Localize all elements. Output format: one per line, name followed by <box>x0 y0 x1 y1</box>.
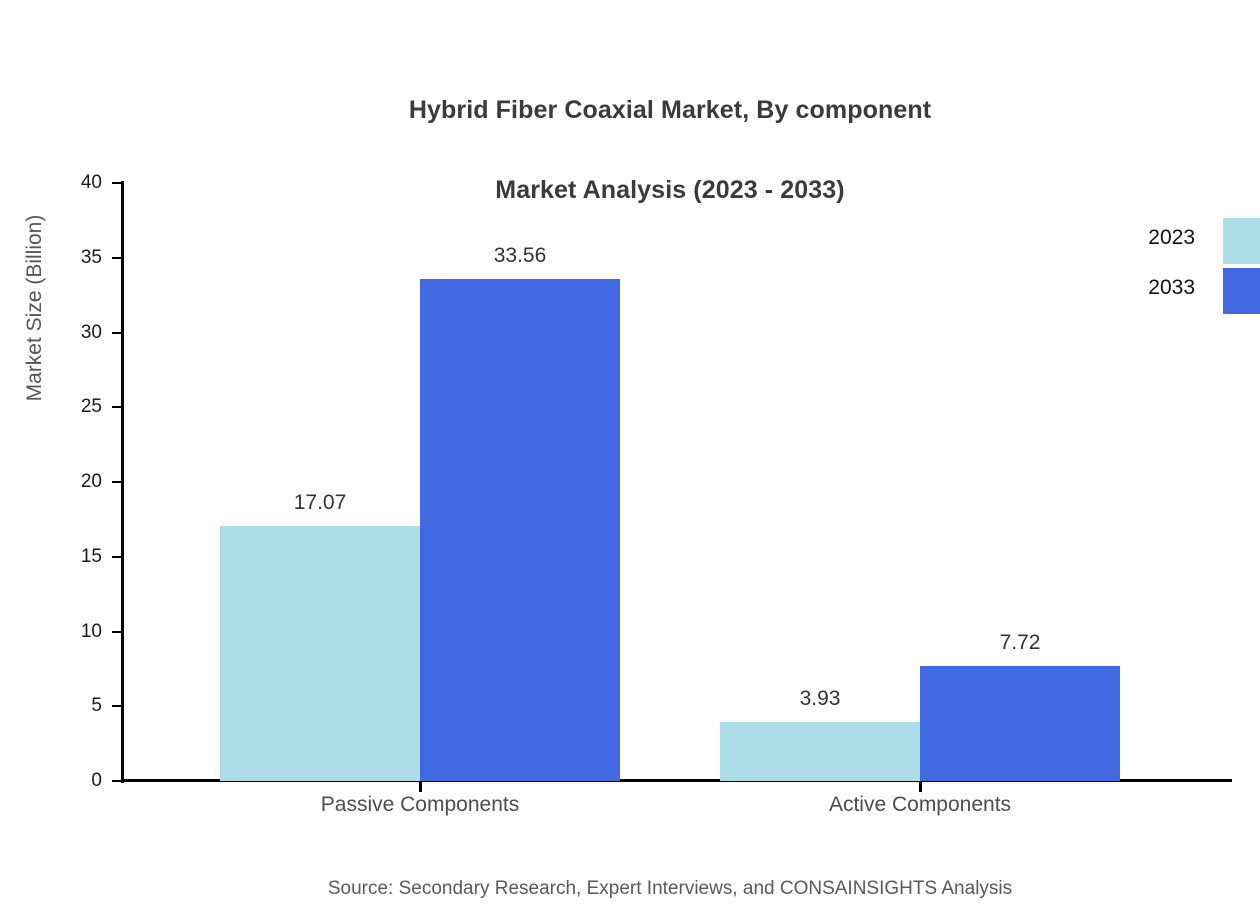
y-tick-mark <box>112 705 122 707</box>
chart-title: Hybrid Fiber Coaxial Market, By componen… <box>0 50 1260 250</box>
legend-item-2033[interactable]: 2033 <box>1135 268 1260 318</box>
y-tick-mark <box>112 631 122 633</box>
legend-label: 2033 <box>1135 276 1195 300</box>
bar-2033-active-components[interactable] <box>920 666 1120 781</box>
y-tick-mark <box>112 332 122 334</box>
bar-2033-passive-components[interactable] <box>420 279 620 781</box>
y-tick-label: 0 <box>42 770 102 792</box>
y-tick-label: 30 <box>42 322 102 344</box>
y-tick-mark <box>112 780 122 782</box>
y-tick-label: 5 <box>42 695 102 717</box>
bar-2023-active-components[interactable] <box>720 722 920 781</box>
chart-title-line-2: Market Analysis (2023 - 2033) <box>0 170 1260 210</box>
y-tick-label: 20 <box>42 471 102 493</box>
y-tick-mark <box>112 182 122 184</box>
y-tick-mark <box>112 556 122 558</box>
bar-value-label: 3.93 <box>800 687 841 711</box>
y-tick-label: 40 <box>42 172 102 194</box>
legend-item-2023[interactable]: 2023 <box>1135 218 1260 268</box>
y-tick-mark <box>112 257 122 259</box>
y-tick-mark <box>112 406 122 408</box>
chart-legend: 20232033 <box>1135 218 1260 318</box>
y-tick-label: 10 <box>42 621 102 643</box>
chart-title-line-1: Hybrid Fiber Coaxial Market, By componen… <box>0 90 1260 130</box>
y-tick-label: 35 <box>42 247 102 269</box>
source-note: Source: Secondary Research, Expert Inter… <box>0 878 1260 900</box>
bar-value-label: 7.72 <box>1000 631 1041 655</box>
bar-value-label: 17.07 <box>294 491 347 515</box>
y-tick-mark <box>112 481 122 483</box>
bar-value-label: 33.56 <box>494 244 547 268</box>
x-tick-mark <box>919 781 922 792</box>
legend-color-swatch <box>1223 218 1260 264</box>
x-tick-mark <box>419 781 422 792</box>
legend-label: 2023 <box>1135 226 1195 250</box>
x-tick-label-active-components: Active Components <box>829 793 1011 817</box>
legend-color-swatch <box>1223 268 1260 314</box>
y-tick-label: 15 <box>42 546 102 568</box>
bar-chart-figure: Hybrid Fiber Coaxial Market, By componen… <box>0 0 1260 920</box>
x-tick-label-passive-components: Passive Components <box>321 793 519 817</box>
y-tick-label: 25 <box>42 396 102 418</box>
bar-2023-passive-components[interactable] <box>220 526 420 781</box>
y-axis-title: Market Size (Billion) <box>23 8 47 608</box>
